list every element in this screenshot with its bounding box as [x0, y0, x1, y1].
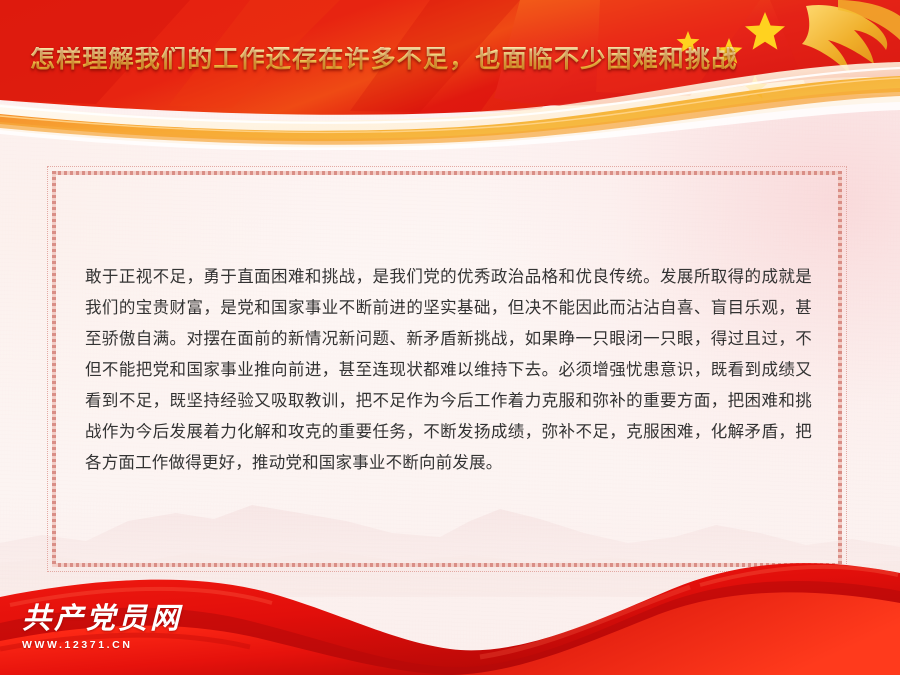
poster-page: 怎样理解我们的工作还存在许多不足，也面临不少困难和挑战 敢于正视不足，勇于直面困… [0, 0, 900, 675]
header-banner: 怎样理解我们的工作还存在许多不足，也面临不少困难和挑战 [0, 0, 900, 150]
article-body: 敢于正视不足，勇于直面困难和挑战，是我们党的优秀政治品格和优良传统。发展所取得的… [85, 262, 812, 479]
logo-url: WWW.12371.CN [22, 639, 182, 651]
page-title: 怎样理解我们的工作还存在许多不足，也面临不少困难和挑战 [30, 47, 737, 72]
site-logo: 共产党员网 WWW.12371.CN [22, 605, 182, 651]
logo-wordmark: 共产党员网 [22, 605, 182, 634]
